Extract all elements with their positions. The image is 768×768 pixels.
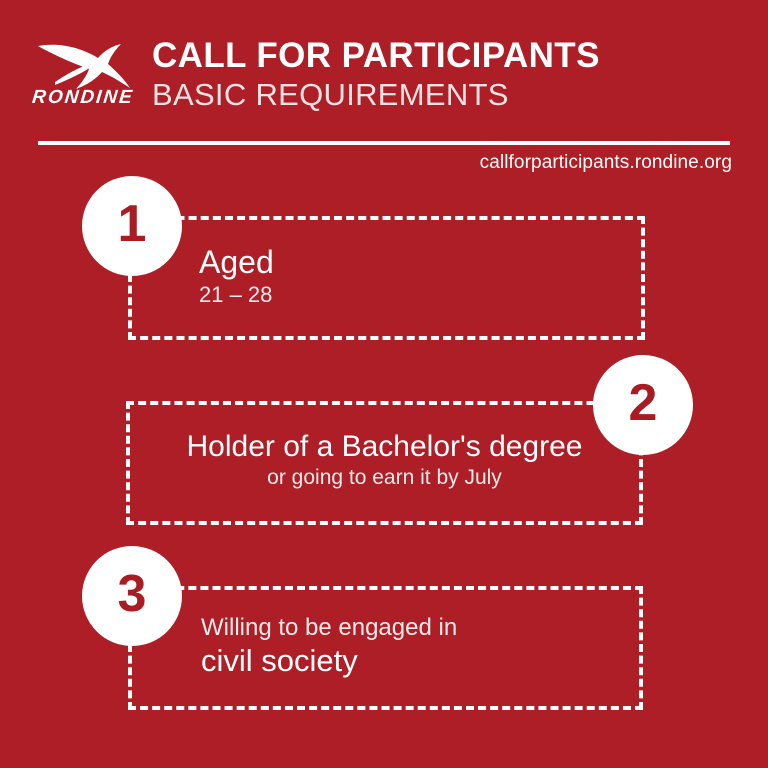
rondine-wordmark: RONDINE: [24, 88, 142, 107]
requirement-primary-line: Aged: [199, 244, 274, 281]
requirement-secondary-line: or going to earn it by July: [126, 465, 643, 491]
requirement-text: Aged 21 – 28: [199, 244, 274, 308]
swallow-bird-icon: [24, 38, 142, 92]
badge-number: 1: [118, 198, 147, 250]
requirement-secondary-line: 21 – 28: [199, 281, 274, 308]
rondine-logo: RONDINE: [24, 38, 142, 116]
requirement-number-badge: 3: [82, 546, 182, 646]
call-for-participants-poster: RONDINE CALL FOR PARTICIPANTS BASIC REQU…: [0, 0, 768, 768]
header-divider: [38, 141, 730, 145]
requirement-number-badge: 2: [593, 355, 693, 455]
poster-title: CALL FOR PARTICIPANTS: [152, 36, 600, 76]
badge-number: 2: [629, 377, 658, 429]
requirement-text: Willing to be engaged in civil society: [201, 613, 457, 679]
website-url: callforparticipants.rondine.org: [480, 152, 732, 174]
badge-number: 3: [118, 568, 147, 620]
poster-header: RONDINE CALL FOR PARTICIPANTS BASIC REQU…: [0, 0, 768, 150]
requirement-secondary-line: Willing to be engaged in: [201, 613, 457, 642]
requirement-primary-line: civil society: [201, 642, 457, 679]
header-titles: CALL FOR PARTICIPANTS BASIC REQUIREMENTS: [152, 36, 600, 114]
requirement-text: Holder of a Bachelor's degree or going t…: [126, 429, 643, 491]
poster-subtitle: BASIC REQUIREMENTS: [152, 76, 600, 114]
requirement-primary-line: Holder of a Bachelor's degree: [126, 429, 643, 465]
requirement-number-badge: 1: [82, 176, 182, 276]
